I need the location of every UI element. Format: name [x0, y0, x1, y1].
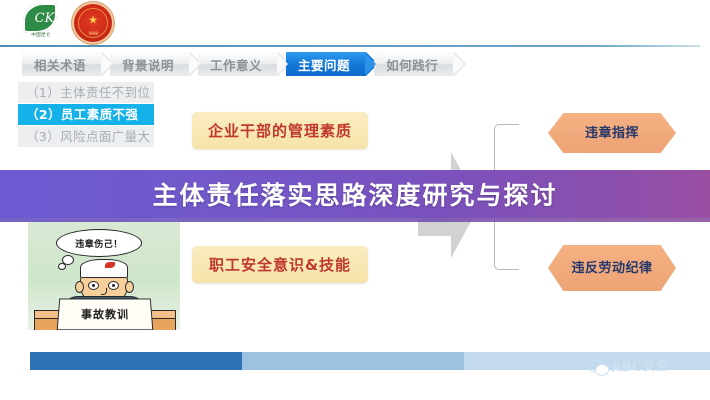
watermark-text: ABC安全: [611, 355, 670, 376]
hexagon-1-label: 违章指挥: [548, 113, 676, 153]
hexagon-3-line1: 违反劳动: [571, 261, 625, 276]
watermark: ABC安全: [588, 355, 670, 377]
breadcrumb: 相关术语 背景说明 工作意义 主要问题 如何践行: [22, 52, 462, 76]
banner-bottom-edge: [0, 218, 710, 222]
lesson-paper: 事故教训: [57, 299, 154, 330]
breadcrumb-item-5[interactable]: 如何践行: [374, 52, 454, 76]
hexagon-violation-labor-discipline[interactable]: 违反劳动 纪律: [548, 245, 676, 291]
kunlun-logo-text: 中国昆仑: [18, 33, 64, 38]
wechat-icon: [588, 358, 609, 375]
nose: [101, 288, 107, 295]
bottom-bar-segment-1: [30, 352, 242, 370]
ear-right: [125, 281, 134, 293]
kunlun-logo: CK 中国昆仑: [18, 2, 64, 44]
card-employee-safety[interactable]: 职工安全意识&技能: [192, 246, 368, 283]
emblem-star-icon: ★: [88, 14, 98, 25]
breadcrumb-item-2[interactable]: 背景说明: [110, 52, 190, 76]
thought-tail-small-icon: [58, 263, 66, 270]
sidebar-item-1[interactable]: （1）主体责任不到位: [18, 82, 154, 103]
slide-canvas: CK 中国昆仑 ★ ❊❊❊ 相关术语 背景说明 工作意义 主要问题 如何践行 （…: [0, 0, 710, 400]
thought-bubble: 违章伤己！: [56, 229, 142, 257]
kunlun-leaf-icon: CK: [23, 3, 57, 33]
breadcrumb-item-1[interactable]: 相关术语: [22, 52, 102, 76]
card-manager-quality[interactable]: 企业干部的管理素质: [192, 112, 368, 149]
cartoon-illustration: 违章伤己！ 事故教训: [28, 222, 180, 330]
banner-title: 主体责任落实思路深度研究与探讨: [152, 176, 557, 212]
hexagon-violation-command[interactable]: 违章指挥: [548, 113, 676, 153]
breadcrumb-item-3[interactable]: 工作意义: [198, 52, 278, 76]
national-emblem-icon: ★ ❊❊❊: [74, 4, 112, 42]
sidebar-item-3[interactable]: （3）风险点面广量大: [18, 126, 154, 147]
eye-right: [108, 281, 119, 290]
bandage-icon: [80, 259, 128, 278]
logo-row: CK 中国昆仑 ★ ❊❊❊: [18, 2, 138, 44]
hexagon-3-label: 违反劳动 纪律: [548, 245, 676, 291]
wechat-bubble-front: [595, 363, 609, 375]
sidebar-item-2-active[interactable]: （2）员工素质不强: [18, 104, 154, 125]
eye-left: [88, 281, 99, 290]
header-divider: [0, 45, 700, 47]
sidebar: （1）主体责任不到位 （2）员工素质不强 （3）风险点面广量大: [18, 82, 154, 148]
title-banner: 主体责任落实思路深度研究与探讨: [0, 170, 710, 218]
ear-left: [75, 281, 84, 293]
breadcrumb-item-4-active[interactable]: 主要问题: [286, 52, 366, 76]
bottom-bar-segment-2: [242, 352, 464, 370]
emblem-wheat-icon: ❊❊❊: [74, 31, 112, 37]
blood-stain-icon: [105, 262, 115, 268]
pupil-right: [112, 284, 115, 287]
hexagon-3-line2: 纪律: [626, 261, 653, 276]
pupil-left: [92, 284, 95, 287]
kunlun-monogram: CK: [32, 9, 57, 29]
